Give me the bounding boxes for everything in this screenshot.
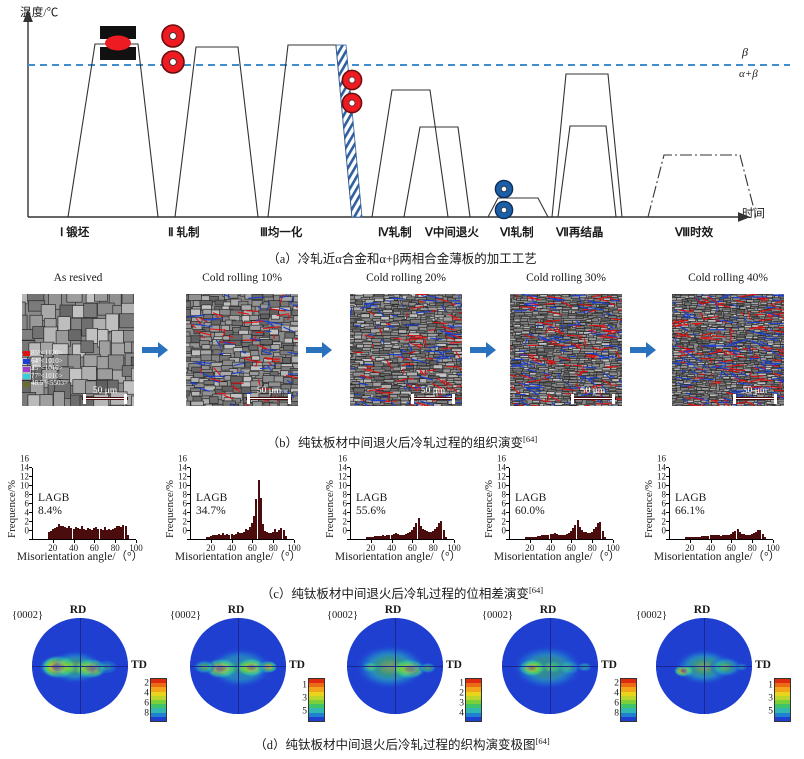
scalebar-0: 50 μm: [82, 386, 128, 400]
scalebar-label-2: 50 μm: [410, 386, 456, 397]
histogram-3: Frequence/%024681012141620406080100LAGB6…: [477, 462, 637, 580]
ebsd-arrow-3: [630, 342, 656, 358]
ebsd-arrow-0: [142, 342, 168, 358]
ytick-0-14: 14: [20, 464, 29, 473]
xtickmark-2-20: [371, 540, 372, 543]
ytick-1-8: 8: [183, 491, 188, 500]
histogram-xlabel-1: Misorientation angle/（°）: [158, 548, 318, 564]
ytickmark-2-8: [347, 503, 350, 504]
xtickmark-1-60: [252, 540, 253, 543]
ytickmark-2-12: [347, 485, 350, 486]
ytick-3-4: 4: [502, 509, 507, 518]
xtickmark-0-60: [94, 540, 95, 543]
ebsd-title-4: Cold rolling 40%: [650, 272, 804, 284]
histogram-xlabel-2: Misorientation angle/（°）: [318, 548, 478, 564]
histogram-2: Frequence/%024681012141620406080100LAGB5…: [318, 462, 478, 580]
ebsd-misorientation-legend: 85°<1120>64°<1010>35°<1010>77°<1010>48.5…: [23, 350, 68, 388]
xtickmark-2-80: [433, 540, 434, 543]
pole-figure-disc-3: [502, 618, 598, 714]
histogram-1: Frequence/%024681012141620406080100LAGB3…: [158, 462, 318, 580]
ytickmark-0-14: [29, 476, 32, 477]
stage-curve-8: [648, 155, 756, 217]
ytickmark-1-2: [187, 530, 190, 531]
ytick-1-4: 4: [183, 509, 188, 518]
xtickmark-1-20: [211, 540, 212, 543]
stage-label-6: Ⅵ轧制: [500, 224, 534, 240]
stage-label-5: Ⅴ中间退火: [425, 224, 479, 240]
pole-figure-td-axis-0: [32, 666, 128, 667]
ebsd-image-0: 85°<1120>64°<1010>35°<1010>77°<1010>48.5…: [22, 294, 134, 406]
bar-3-38: [604, 537, 606, 539]
ytick-3-8: 8: [502, 491, 507, 500]
ytick-3-2: 2: [502, 518, 507, 527]
ebsd-image-2: 50 μm: [350, 294, 462, 406]
bar-1-38: [285, 536, 287, 539]
caption-c: （c）纯钛板材中间退火后冷轧过程的位相差演变[64]: [0, 583, 804, 602]
histogram-xaxis-2: [350, 539, 454, 540]
pole-figure-td-axis-1: [190, 666, 286, 667]
figure-root: 温度/℃ 时间 β α+β: [0, 0, 804, 759]
pole-figure-row: RD{0002}TD2468RD{0002}TD135RD{0002}TD123…: [0, 604, 804, 730]
pole-figure-disc-1: [190, 618, 286, 714]
pole-figure-td-label-2: TD: [446, 659, 462, 671]
histogram-annotation-4: LAGB66.1%: [675, 492, 706, 517]
ytickmark-0-0: [29, 539, 32, 540]
misorientation-histogram-row: Frequence/%024681012141620406080100LAGB8…: [0, 462, 804, 580]
xtickmark-1-80: [273, 540, 274, 543]
xtickmark-3-40: [551, 540, 552, 543]
pole-figure-td-label-4: TD: [755, 659, 771, 671]
colorbar-label-4-2: 5: [768, 707, 773, 717]
ytick-0-4: 4: [25, 509, 30, 518]
ytick-2-2: 2: [343, 518, 348, 527]
pole-figure-colorbar-4: [774, 678, 791, 722]
pole-figure-hkl-label-0: {0002}: [12, 610, 43, 621]
scalebar-3: 50 μm: [570, 386, 616, 400]
ytick-4-14: 14: [657, 464, 666, 473]
colorbar-label-4-1: 3: [768, 694, 773, 704]
ebsd-title-1: Cold rolling 10%: [164, 272, 320, 284]
histogram-ylabel-4: Frequence/%: [643, 472, 655, 546]
pole-figure-colorbar-labels-3: 2468: [606, 678, 619, 720]
colorbar-segment-0-0: [151, 717, 166, 721]
process-route-diagram: 温度/℃ 时间 β α+β: [0, 0, 804, 250]
ytick-2-10: 10: [338, 482, 347, 491]
colorbar-segment-1-0: [309, 717, 324, 721]
stage-label-8: Ⅷ时效: [675, 224, 713, 240]
pole-figure-td-label-1: TD: [289, 659, 305, 671]
ytick-0-2: 2: [25, 518, 30, 527]
ytickmark-4-10: [666, 494, 669, 495]
stage-curve-4: [372, 90, 448, 217]
pole-figure-hkl-label-2: {0002}: [327, 610, 358, 621]
histogram-annotation-value-2: 55.6%: [356, 505, 387, 518]
stage-label-7: Ⅶ再结晶: [556, 224, 603, 240]
histogram-annotation-1: LAGB34.7%: [196, 492, 227, 517]
caption-d: （d）纯钛板材中间退火后冷轧过程的织构演变极图[64]: [0, 734, 804, 753]
ebsd-title-3: Cold rolling 30%: [488, 272, 644, 284]
pole-figure-colorbar-labels-4: 135: [760, 678, 773, 720]
xtickmark-0-80: [115, 540, 116, 543]
pole-figure-colorbar-labels-0: 2468: [136, 678, 149, 720]
stage-curve-7a: [552, 74, 622, 217]
pole-figure-td-axis-3: [502, 666, 598, 667]
histogram-xlabel-3: Misorientation angle/（°）: [477, 548, 637, 564]
press-tool-icon: [100, 26, 136, 60]
xtickmark-2-60: [412, 540, 413, 543]
histogram-annotation-value-3: 60.0%: [515, 505, 546, 518]
histogram-annotation-3: LAGB60.0%: [515, 492, 546, 517]
stage-curve-1: [68, 44, 158, 217]
histogram-annotation-text-4: LAGB: [675, 492, 706, 505]
ytickmark-4-12: [666, 485, 669, 486]
xtickmark-4-100: [773, 540, 774, 543]
ytick-3-12: 12: [497, 473, 506, 482]
pole-figure-hkl-label-3: {0002}: [482, 610, 513, 621]
ytickmark-2-14: [347, 476, 350, 477]
ytick-0-0: 0: [25, 527, 30, 536]
pole-figure-2: RD{0002}TD1234: [325, 604, 485, 730]
colorbar-label-3-3: 8: [614, 709, 619, 719]
blue-roll-pair-icon-6: [495, 180, 512, 218]
scalebar-label-1: 50 μm: [246, 386, 292, 397]
ytick-4-16: 16: [657, 455, 666, 464]
ytick-2-0: 0: [343, 527, 348, 536]
xtickmark-0-100: [136, 540, 137, 543]
xtickmark-2-40: [392, 540, 393, 543]
ytickmark-3-16: [506, 467, 509, 468]
ytickmark-1-4: [187, 521, 190, 522]
colorbar-label-4-0: 1: [768, 681, 773, 691]
xtickmark-3-80: [592, 540, 593, 543]
pole-figure-disc-4: [656, 618, 752, 714]
ytick-0-8: 8: [25, 491, 30, 500]
ytick-1-14: 14: [178, 464, 187, 473]
histogram-0: Frequence/%024681012141620406080100LAGB8…: [0, 462, 160, 580]
ytickmark-3-6: [506, 512, 509, 513]
ytick-3-14: 14: [497, 464, 506, 473]
bar-2-38: [445, 537, 447, 539]
ytickmark-1-16: [187, 467, 190, 468]
ytickmark-0-10: [29, 494, 32, 495]
stage-curve-7b: [558, 126, 616, 217]
histogram-xaxis-4: [669, 539, 773, 540]
ytick-1-12: 12: [178, 473, 187, 482]
ytickmark-1-14: [187, 476, 190, 477]
ytickmark-0-4: [29, 521, 32, 522]
histogram-ylabel-0: Frequence/%: [6, 472, 18, 546]
bar-4-38: [764, 537, 766, 539]
ytickmark-2-0: [347, 539, 350, 540]
ytickmark-0-12: [29, 485, 32, 486]
ytick-0-6: 6: [25, 500, 30, 509]
xtickmark-0-40: [74, 540, 75, 543]
pole-figure-hkl-label-1: {0002}: [170, 610, 201, 621]
legend-swatch-4: [23, 382, 30, 387]
histogram-ylabel-3: Frequence/%: [483, 472, 495, 546]
xtickmark-3-20: [530, 540, 531, 543]
scalebar-line-0: [82, 397, 128, 400]
ebsd-image-row: As resived85°<1120>64°<1010>35°<1010>77°…: [0, 272, 804, 432]
legend-swatch-2: [23, 367, 30, 372]
stage-label-3: Ⅲ均一化: [260, 224, 302, 240]
pole-figure-colorbar-labels-1: 135: [294, 678, 307, 720]
ytickmark-1-6: [187, 512, 190, 513]
histogram-annotation-text-2: LAGB: [356, 492, 387, 505]
scalebar-label-0: 50 μm: [82, 386, 128, 397]
legend-row-4: 48.5°<5503>: [23, 380, 68, 388]
ytick-4-4: 4: [662, 509, 667, 518]
scalebar-line-3: [570, 397, 616, 400]
pole-figure-td-label-0: TD: [131, 659, 147, 671]
ytickmark-4-0: [666, 539, 669, 540]
histogram-annotation-value-4: 66.1%: [675, 505, 706, 518]
xtickmark-1-100: [294, 540, 295, 543]
pole-figure-disc-2: [347, 618, 443, 714]
ytickmark-2-4: [347, 521, 350, 522]
histogram-annotation-text-0: LAGB: [38, 492, 69, 505]
ytickmark-4-16: [666, 467, 669, 468]
histogram-annotation-value-1: 34.7%: [196, 505, 227, 518]
ytickmark-3-14: [506, 476, 509, 477]
pole-figure-td-label-3: TD: [601, 659, 617, 671]
ebsd-image-4: 50 μm: [672, 294, 784, 406]
ytick-1-2: 2: [183, 518, 188, 527]
ytick-4-10: 10: [657, 482, 666, 491]
ytickmark-2-16: [347, 467, 350, 468]
ytickmark-2-2: [347, 530, 350, 531]
ytickmark-4-6: [666, 512, 669, 513]
scalebar-line-4: [732, 397, 778, 400]
pole-figure-colorbar-labels-2: 1234: [451, 678, 464, 720]
pole-figure-colorbar-0: [150, 678, 167, 722]
legend-label-4: 48.5°<5503>: [31, 380, 68, 388]
ytickmark-2-6: [347, 512, 350, 513]
ytickmark-3-0: [506, 539, 509, 540]
histogram-xlabel-4: Misorientation angle/（°）: [637, 548, 797, 564]
xtickmark-0-20: [53, 540, 54, 543]
ytickmark-3-12: [506, 485, 509, 486]
xtickmark-4-40: [711, 540, 712, 543]
ytickmark-0-2: [29, 530, 32, 531]
xtickmark-4-60: [731, 540, 732, 543]
ytickmark-4-2: [666, 530, 669, 531]
stage-label-2: Ⅱ 轧制: [168, 224, 200, 240]
histogram-xaxis-1: [190, 539, 294, 540]
caption-b: （b）纯钛板材中间退火后冷轧过程的组织演变[64]: [0, 432, 804, 451]
pole-figure-1: RD{0002}TD135: [168, 604, 328, 730]
ytick-2-8: 8: [343, 491, 348, 500]
red-roll-pair-icon-2: [162, 25, 184, 73]
ytick-3-0: 0: [502, 527, 507, 536]
ytick-1-6: 6: [183, 500, 188, 509]
ytick-3-16: 16: [497, 455, 506, 464]
pole-figure-4: RD{0002}TD135: [634, 604, 794, 730]
xtickmark-4-20: [690, 540, 691, 543]
caption-a: （a）冷轧近α合金和α+β两相合金薄板的加工工艺: [0, 248, 804, 267]
ebsd-title-2: Cold rolling 20%: [328, 272, 484, 284]
scalebar-label-3: 50 μm: [570, 386, 616, 397]
colorbar-label-1-1: 3: [302, 694, 307, 704]
scalebar-2: 50 μm: [410, 386, 456, 400]
ytick-4-8: 8: [662, 491, 667, 500]
histogram-annotation-value-0: 8.4%: [38, 505, 69, 518]
stage-curve-2: [175, 47, 258, 217]
ytick-2-4: 4: [343, 509, 348, 518]
pole-figure-3: RD{0002}TD2468: [480, 604, 640, 730]
histogram-annotation-text-1: LAGB: [196, 492, 227, 505]
ytick-4-12: 12: [657, 473, 666, 482]
ytickmark-3-2: [506, 530, 509, 531]
stage-label-1: Ⅰ 锻坯: [60, 224, 89, 240]
stage-label-4: Ⅳ轧制: [378, 224, 412, 240]
histogram-ylabel-1: Frequence/%: [164, 472, 176, 546]
scalebar-1: 50 μm: [246, 386, 292, 400]
ytickmark-4-8: [666, 503, 669, 504]
histogram-xlabel-0: Misorientation angle/（°）: [0, 548, 160, 564]
legend-swatch-3: [23, 374, 30, 379]
ytick-3-10: 10: [497, 482, 506, 491]
ebsd-arrow-2: [470, 342, 496, 358]
ytick-2-12: 12: [338, 473, 347, 482]
histogram-ylabel-2: Frequence/%: [324, 472, 336, 546]
pole-figure-hkl-label-4: {0002}: [636, 610, 667, 621]
histogram-annotation-text-3: LAGB: [515, 492, 546, 505]
scalebar-line-2: [410, 397, 456, 400]
ytickmark-1-8: [187, 503, 190, 504]
xtickmark-1-40: [232, 540, 233, 543]
histogram-annotation-0: LAGB8.4%: [38, 492, 69, 517]
ytick-1-16: 16: [178, 455, 187, 464]
ebsd-arrow-1: [306, 342, 332, 358]
histogram-annotation-2: LAGB55.6%: [356, 492, 387, 517]
ytickmark-0-6: [29, 512, 32, 513]
ytick-1-10: 10: [178, 482, 187, 491]
xtickmark-2-100: [454, 540, 455, 543]
histogram-xaxis-3: [509, 539, 613, 540]
colorbar-label-1-2: 5: [302, 707, 307, 717]
ytickmark-1-12: [187, 485, 190, 486]
pole-figure-td-axis-2: [347, 666, 443, 667]
ytick-2-16: 16: [338, 455, 347, 464]
ytick-0-12: 12: [20, 473, 29, 482]
pole-figure-colorbar-1: [308, 678, 325, 722]
colorbar-segment-2-0: [466, 717, 481, 721]
ytick-3-6: 6: [502, 500, 507, 509]
ytickmark-3-10: [506, 494, 509, 495]
colorbar-label-1-0: 1: [302, 681, 307, 691]
ytick-2-14: 14: [338, 464, 347, 473]
ebsd-title-0: As resived: [0, 272, 156, 284]
histogram-4: Frequence/%024681012141620406080100LAGB6…: [637, 462, 797, 580]
ytickmark-2-10: [347, 494, 350, 495]
ytickmark-1-10: [187, 494, 190, 495]
ytick-4-2: 2: [662, 518, 667, 527]
scalebar-4: 50 μm: [732, 386, 778, 400]
ytickmark-0-16: [29, 467, 32, 468]
ytickmark-3-4: [506, 521, 509, 522]
ebsd-image-1: 50 μm: [186, 294, 298, 406]
ytick-0-16: 16: [20, 455, 29, 464]
colorbar-label-2-3: 4: [459, 709, 464, 719]
ytickmark-0-8: [29, 503, 32, 504]
ytick-4-0: 0: [662, 527, 667, 536]
ytickmark-4-4: [666, 521, 669, 522]
ytickmark-3-8: [506, 503, 509, 504]
legend-swatch-0: [23, 351, 30, 356]
ytick-1-0: 0: [183, 527, 188, 536]
scalebar-line-1: [246, 397, 292, 400]
ytick-0-10: 10: [20, 482, 29, 491]
ebsd-image-3: 50 μm: [510, 294, 622, 406]
pole-figure-td-axis-4: [656, 666, 752, 667]
xtickmark-3-60: [571, 540, 572, 543]
ytickmark-1-0: [187, 539, 190, 540]
scalebar-label-4: 50 μm: [732, 386, 778, 397]
pole-figure-disc-0: [32, 618, 128, 714]
bar-0-38: [127, 535, 129, 540]
pole-figure-0: RD{0002}TD2468: [10, 604, 170, 730]
ytick-2-6: 6: [343, 500, 348, 509]
xtickmark-4-80: [752, 540, 753, 543]
xtickmark-3-100: [613, 540, 614, 543]
legend-swatch-1: [23, 359, 30, 364]
colorbar-segment-4-0: [775, 717, 790, 721]
ytick-4-6: 6: [662, 500, 667, 509]
histogram-xaxis-0: [32, 539, 136, 540]
process-curve-svg: [0, 0, 804, 250]
ytickmark-4-14: [666, 476, 669, 477]
colorbar-label-0-3: 8: [144, 709, 149, 719]
